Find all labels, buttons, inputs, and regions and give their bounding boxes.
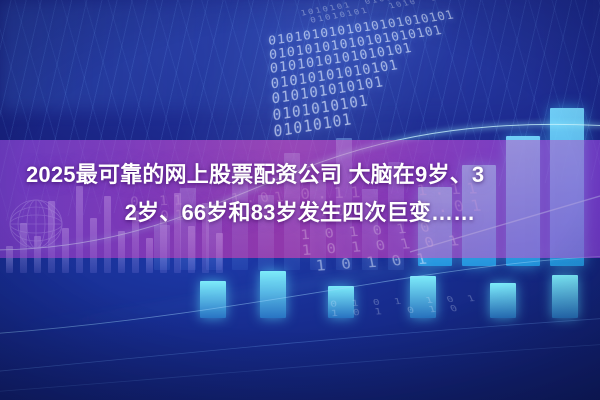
banner-image: 1010101 0101 10101 01010101 1010 01 0101…	[0, 0, 600, 400]
headline-line-1: 2025最可靠的网上股票配资公司 大脑在9岁、3	[26, 156, 574, 194]
headline-text: 2025最可靠的网上股票配资公司 大脑在9岁、3 2岁、66岁和83岁发生四次巨…	[0, 156, 600, 232]
headline-line-2: 2岁、66岁和83岁发生四次巨变……	[26, 194, 574, 232]
